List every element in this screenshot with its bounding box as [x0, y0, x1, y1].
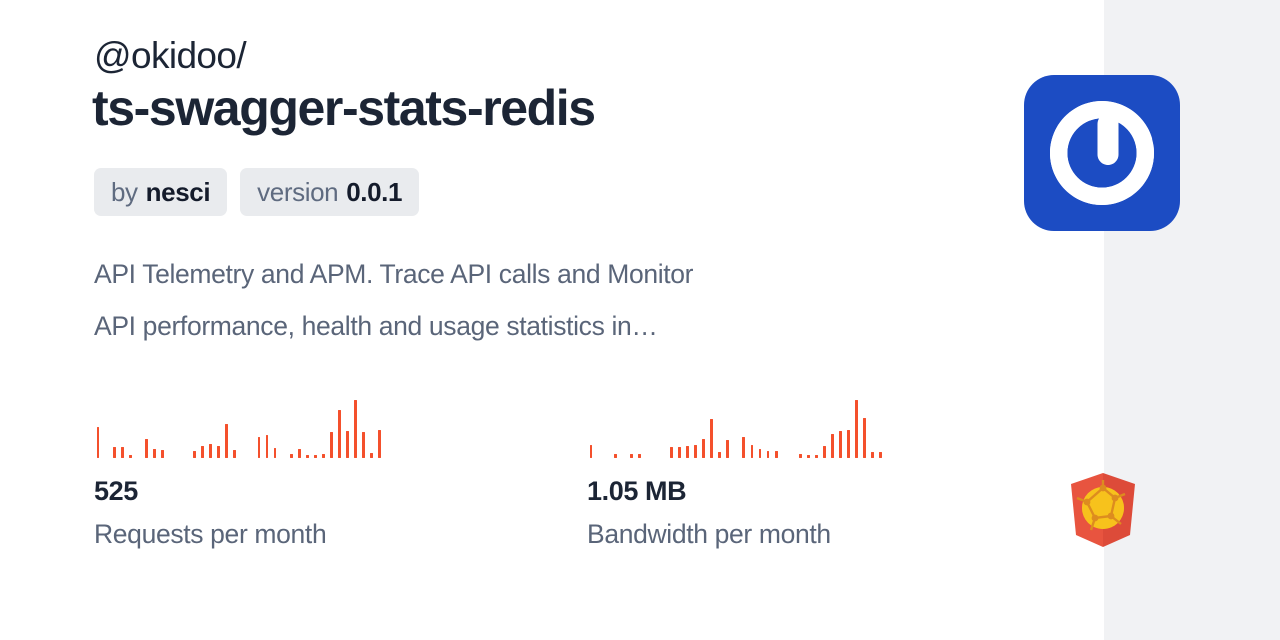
sparkline-bar — [702, 439, 705, 458]
sparkline-bar — [129, 455, 132, 458]
bandwidth-stat-label: Bandwidth per month — [587, 517, 1080, 551]
author-badge: by nesci — [94, 168, 227, 216]
sparkline-bar — [670, 447, 673, 458]
author-badge-value: nesci — [146, 177, 211, 208]
sparkline-bar — [209, 444, 212, 458]
version-badge-value: 0.0.1 — [346, 177, 402, 208]
sparkline-bar — [710, 419, 713, 458]
sparkline-bar — [97, 427, 100, 458]
sparkline-bar — [266, 435, 269, 458]
sparkline-bar — [113, 447, 116, 458]
bandwidth-stat-value: 1.05 MB — [587, 474, 1080, 508]
bandwidth-sparkline-chart — [587, 398, 909, 458]
sparkline-bar — [290, 454, 293, 458]
sparkline-bar — [686, 446, 689, 458]
sparkline-bar — [258, 437, 261, 458]
sparkline-bar — [145, 439, 148, 458]
sparkline-bar — [855, 400, 858, 458]
badge-row: by nesci version 0.0.1 — [94, 168, 419, 216]
sparkline-bar — [161, 450, 164, 458]
sparkline-bar — [775, 451, 778, 458]
sparkline-bar — [863, 418, 866, 458]
sparkline-bar — [831, 434, 834, 458]
sparkline-bar — [614, 454, 617, 458]
sparkline-bar — [362, 432, 365, 458]
version-badge-label: version — [257, 177, 338, 208]
sparkline-bar — [694, 445, 697, 458]
bandwidth-stat: 1.05 MB Bandwidth per month — [587, 398, 1080, 551]
description-line-2: API performance, health and usage statis… — [94, 300, 924, 352]
requests-stat-value: 525 — [94, 474, 587, 508]
sparkline-bar — [759, 449, 762, 458]
requests-sparkline-chart — [94, 398, 416, 458]
sparkline-bar — [346, 431, 349, 458]
stats-row: 525 Requests per month 1.05 MB Bandwidth… — [94, 398, 1080, 551]
sparkline-bar — [638, 454, 641, 458]
sparkline-bar — [217, 446, 220, 458]
sparkline-bar — [590, 445, 593, 458]
sparkline-bar — [314, 455, 317, 458]
package-scope: @okidoo/ — [94, 34, 246, 78]
sparkline-bar — [338, 410, 341, 458]
sparkline-bar — [233, 450, 236, 458]
requests-stat: 525 Requests per month — [94, 398, 587, 551]
package-summary-card: @okidoo/ ts-swagger-stats-redis by nesci… — [0, 0, 1280, 640]
sparkline-bar — [807, 455, 810, 458]
main-content: @okidoo/ ts-swagger-stats-redis by nesci… — [94, 0, 1024, 640]
sparkline-bar — [742, 437, 745, 458]
sparkline-bar — [274, 448, 277, 458]
sparkline-bar — [678, 447, 681, 458]
sparkline-bar — [193, 451, 196, 458]
sparkline-bar — [378, 430, 381, 458]
sparkline-bar — [225, 424, 228, 458]
sparkline-bar — [630, 454, 633, 458]
sparkline-bar — [322, 454, 325, 458]
sparkline-bar — [718, 452, 721, 458]
sparkline-bar — [298, 449, 301, 458]
sparkline-bar — [879, 452, 882, 458]
sparkline-bar — [153, 449, 156, 458]
sparkline-bar — [306, 455, 309, 458]
sparkline-bar — [847, 430, 850, 458]
version-badge: version 0.0.1 — [240, 168, 419, 216]
sparkline-bar — [871, 452, 874, 458]
sparkline-bar — [354, 400, 357, 458]
sparkline-bar — [767, 451, 770, 458]
jsdelivr-logo-icon — [1024, 75, 1180, 231]
sparkline-bar — [799, 454, 802, 458]
sparkline-bar — [751, 445, 754, 458]
author-badge-label: by — [111, 177, 138, 208]
package-description: API Telemetry and APM. Trace API calls a… — [94, 248, 924, 352]
sparkline-bar — [121, 447, 124, 458]
sparkline-bar — [815, 455, 818, 458]
sparkline-bar — [201, 446, 204, 458]
requests-stat-label: Requests per month — [94, 517, 587, 551]
sparkline-bar — [330, 432, 333, 458]
description-line-1: API Telemetry and APM. Trace API calls a… — [94, 248, 924, 300]
sparkline-bar — [726, 440, 729, 458]
sparkline-bar — [370, 453, 373, 458]
sparkline-bar — [823, 446, 826, 458]
package-name: ts-swagger-stats-redis — [92, 78, 595, 138]
sparkline-bar — [839, 431, 842, 458]
